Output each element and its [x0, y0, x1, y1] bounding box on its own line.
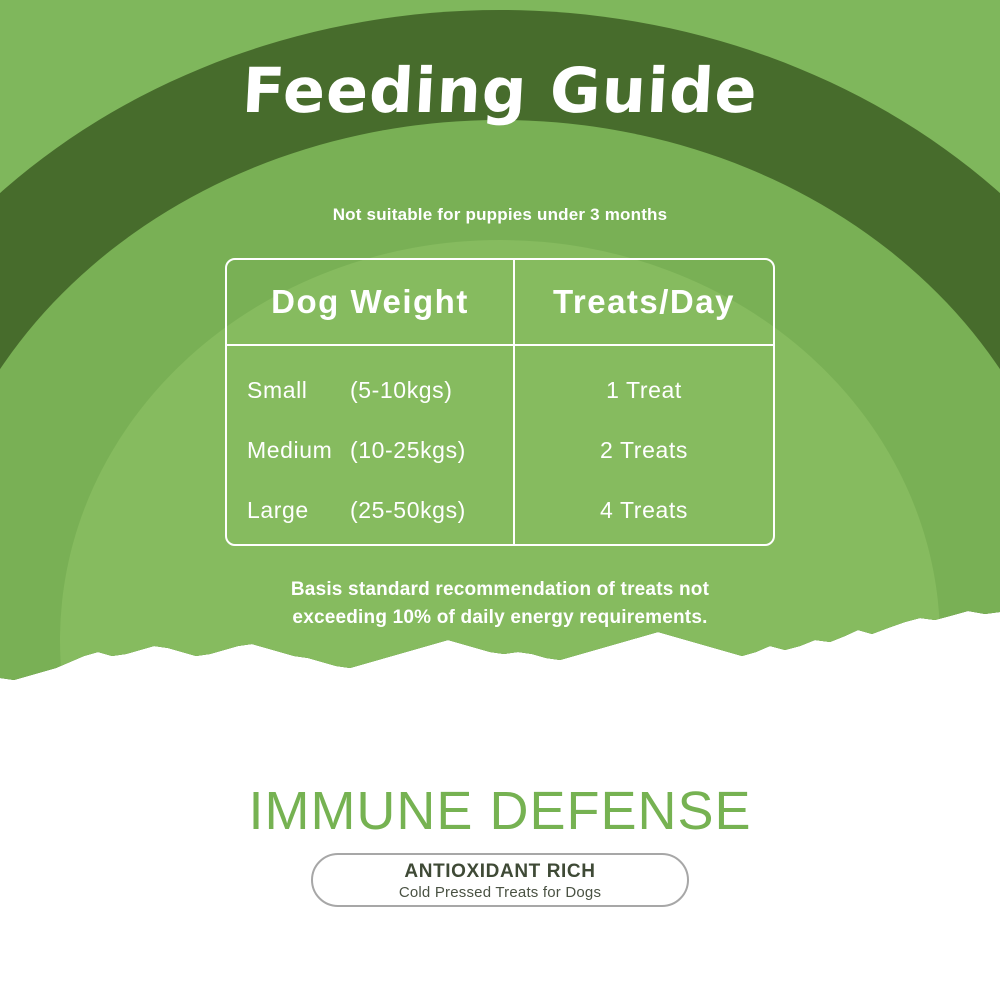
table-row: Medium (10-25kgs) 2 Treats — [227, 420, 773, 480]
table-cell-treats: 2 Treats — [515, 420, 773, 480]
table-cell-treats: 1 Treat — [515, 360, 773, 420]
disclaimer-line-1: Basis standard recommendation of treats … — [0, 576, 1000, 604]
table-cell-weight: Medium (10-25kgs) — [227, 420, 513, 480]
brand-section: IMMUNE DEFENSE ANTIOXIDANT RICH Cold Pre… — [0, 700, 1000, 1000]
table-header-treats-per-day: Treats/Day — [515, 260, 773, 344]
table-header-dog-weight: Dog Weight — [227, 260, 513, 344]
dog-size-label: Medium — [247, 420, 332, 480]
dog-weight-range: (10-25kgs) — [350, 420, 466, 480]
page-title: Feeding Guide — [0, 60, 1000, 122]
dog-size-label: Small — [247, 360, 308, 420]
table-row: Large (25-50kgs) 4 Treats — [227, 480, 773, 540]
table-cell-treats: 4 Treats — [515, 480, 773, 540]
disclaimer-text: Basis standard recommendation of treats … — [0, 576, 1000, 632]
table-cell-weight: Small (5-10kgs) — [227, 360, 513, 420]
dog-size-label: Large — [247, 480, 309, 540]
product-badge-pill: ANTIOXIDANT RICH Cold Pressed Treats for… — [311, 853, 689, 907]
table-body: Small (5-10kgs) 1 Treat Medium (10-25kgs… — [227, 346, 773, 544]
badge-subline: Cold Pressed Treats for Dogs — [313, 884, 687, 901]
feeding-guide-poster: Feeding Guide Not suitable for puppies u… — [0, 0, 1000, 1000]
badge-headline: ANTIOXIDANT RICH — [313, 861, 687, 883]
dog-weight-range: (25-50kgs) — [350, 480, 466, 540]
green-content-area: Feeding Guide Not suitable for puppies u… — [0, 0, 1000, 660]
feeding-table: Dog Weight Treats/Day Small (5-10kgs) 1 … — [225, 258, 775, 546]
table-row: Small (5-10kgs) 1 Treat — [227, 360, 773, 420]
product-name: IMMUNE DEFENSE — [0, 784, 1000, 838]
puppy-warning-text: Not suitable for puppies under 3 months — [0, 205, 1000, 225]
table-grid: Dog Weight Treats/Day Small (5-10kgs) 1 … — [227, 260, 773, 544]
dog-weight-range: (5-10kgs) — [350, 360, 453, 420]
table-cell-weight: Large (25-50kgs) — [227, 480, 513, 540]
disclaimer-line-2: exceeding 10% of daily energy requiremen… — [0, 604, 1000, 632]
